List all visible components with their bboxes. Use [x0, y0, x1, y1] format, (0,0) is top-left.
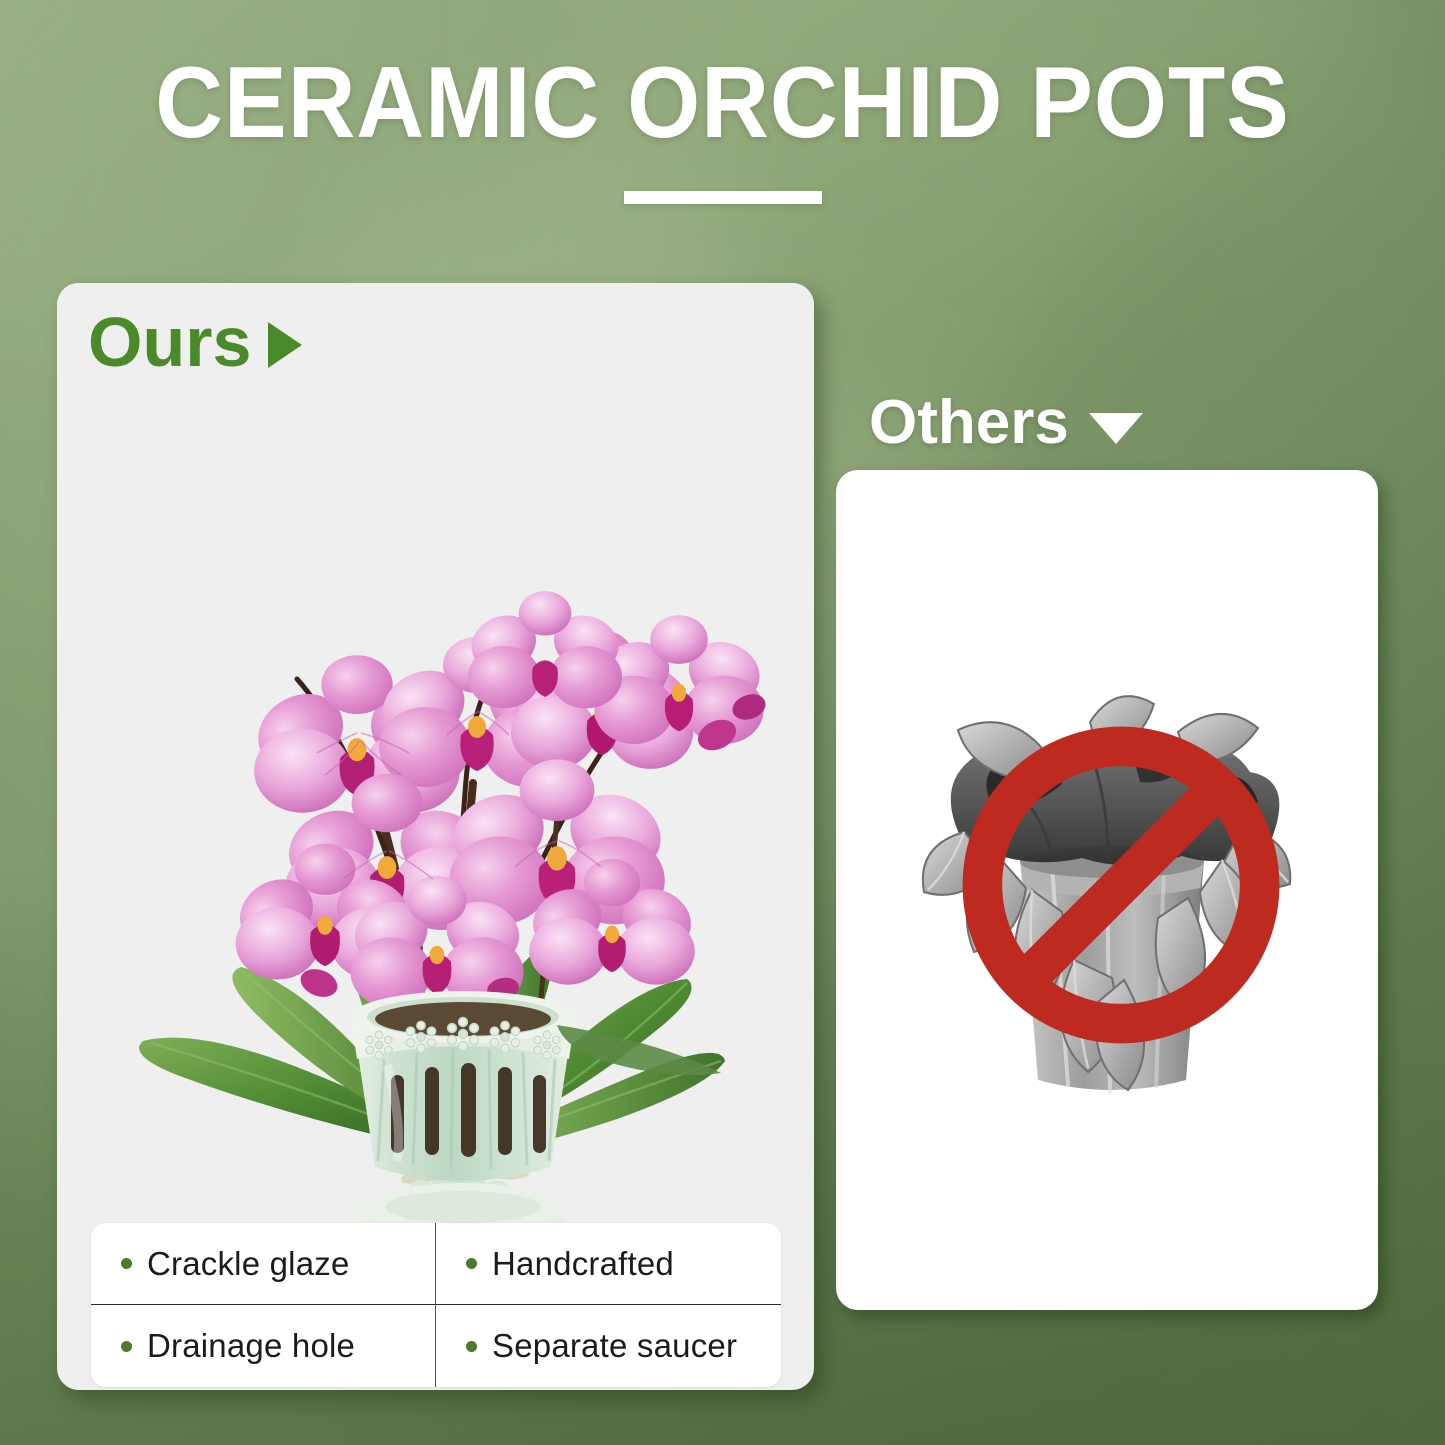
feature-item: Drainage hole	[91, 1305, 436, 1387]
feature-label: Drainage hole	[147, 1327, 355, 1365]
feature-item: Separate saucer	[436, 1305, 781, 1387]
others-label-group: Others	[869, 392, 1143, 454]
ours-card: Crackle glaze Handcrafted Drainage hole …	[57, 283, 814, 1390]
feature-label: Separate saucer	[492, 1327, 737, 1365]
page-title: CERAMIC ORCHID POTS	[51, 52, 1395, 155]
bullet-dot-icon	[121, 1258, 132, 1269]
bullet-dot-icon	[466, 1258, 477, 1269]
triangle-right-icon	[268, 322, 302, 368]
others-product-image	[836, 470, 1378, 1310]
bullet-dot-icon	[121, 1341, 132, 1352]
ours-product-image	[57, 283, 814, 1233]
feature-item: Crackle glaze	[91, 1223, 436, 1305]
bullet-dot-icon	[466, 1341, 477, 1352]
header: CERAMIC ORCHID POTS	[0, 52, 1445, 204]
feature-label: Crackle glaze	[147, 1245, 350, 1283]
ours-label-group: Ours	[88, 307, 302, 377]
triangle-down-icon	[1089, 413, 1143, 444]
feature-item: Handcrafted	[436, 1223, 781, 1305]
ours-label: Ours	[88, 307, 251, 377]
orchid-in-ceramic-pot-illustration	[57, 283, 814, 1233]
features-list: Crackle glaze Handcrafted Drainage hole …	[91, 1223, 781, 1387]
others-label: Others	[869, 392, 1069, 454]
prohibition-icon	[956, 720, 1286, 1050]
feature-label: Handcrafted	[492, 1245, 674, 1283]
title-underline	[624, 191, 822, 204]
